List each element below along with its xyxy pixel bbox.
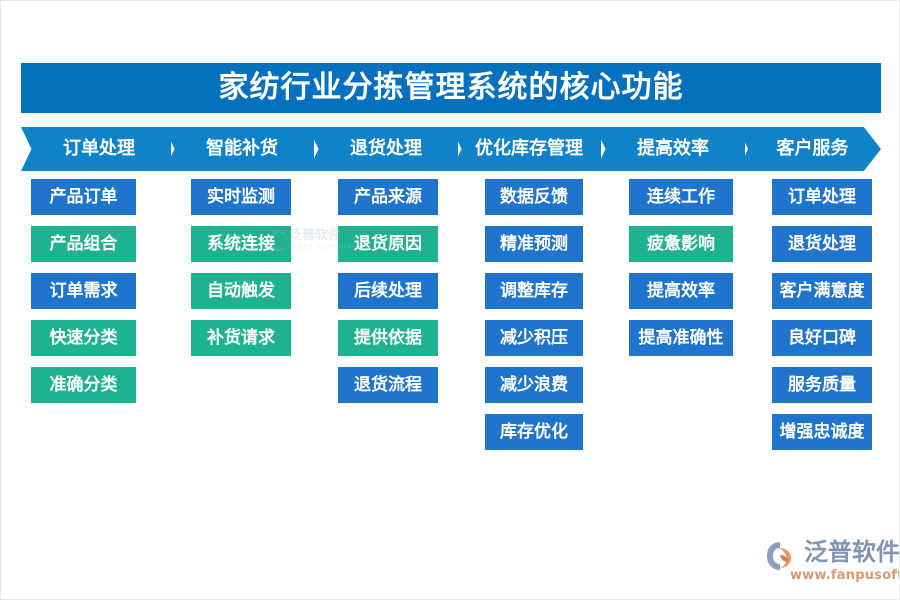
item-box[interactable]: 减少积压 [485, 320, 583, 356]
item-box[interactable]: 后续处理 [338, 273, 438, 309]
chevron-header-label: 订单处理 [57, 140, 135, 158]
item-box[interactable]: 减少浪费 [485, 367, 583, 403]
item-box[interactable]: 客户满意度 [772, 273, 872, 309]
logo-website-url: www.fanpusoft.com [790, 569, 900, 582]
item-label: 订单需求 [50, 283, 118, 300]
title-banner: 家纺行业分拣管理系统的核心功能 [21, 63, 881, 113]
column-6: 订单处理退货处理客户满意度良好口碑服务质量增强忠诚度 [772, 179, 872, 461]
column-2: 实时监测系统连接自动触发补货请求 [191, 179, 291, 367]
item-box[interactable]: 产品订单 [31, 179, 136, 215]
item-box[interactable]: 数据反馈 [485, 179, 583, 215]
item-label: 退货流程 [354, 377, 422, 394]
item-label: 调整库存 [500, 283, 568, 300]
item-box[interactable]: 订单处理 [772, 179, 872, 215]
item-box[interactable]: 产品组合 [31, 226, 136, 262]
item-label: 产品订单 [50, 189, 118, 206]
item-box[interactable]: 订单需求 [31, 273, 136, 309]
item-label: 快速分类 [50, 330, 118, 347]
item-box[interactable]: 提高准确性 [629, 320, 733, 356]
item-box[interactable]: 连续工作 [629, 179, 733, 215]
item-label: 准确分类 [50, 377, 118, 394]
item-box[interactable]: 服务质量 [772, 367, 872, 403]
item-box[interactable]: 准确分类 [31, 367, 136, 403]
item-label: 补货请求 [207, 330, 275, 347]
fanpu-logo-icon [766, 541, 800, 571]
item-label: 系统连接 [207, 236, 275, 253]
item-label: 客户满意度 [780, 283, 865, 300]
chevron-header-label: 退货处理 [344, 140, 422, 158]
item-label: 退货处理 [788, 236, 856, 253]
column-4: 数据反馈精准预测调整库存减少积压减少浪费库存优化 [485, 179, 583, 461]
chevron-header-5[interactable]: 提高效率 [595, 127, 745, 171]
item-box[interactable]: 快速分类 [31, 320, 136, 356]
column-1: 产品订单产品组合订单需求快速分类准确分类 [31, 179, 136, 414]
column-5: 连续工作疲惫影响提高效率提高准确性 [629, 179, 733, 367]
item-label: 提高效率 [647, 283, 715, 300]
item-label: 产品来源 [354, 189, 422, 206]
item-label: 后续处理 [354, 283, 422, 300]
chevron-header-label: 提高效率 [631, 140, 709, 158]
item-box[interactable]: 良好口碑 [772, 320, 872, 356]
item-box[interactable]: 退货原因 [338, 226, 438, 262]
item-label: 自动触发 [207, 283, 275, 300]
item-label: 减少浪费 [500, 377, 568, 394]
item-box[interactable]: 提供依据 [338, 320, 438, 356]
item-box[interactable]: 疲惫影响 [629, 226, 733, 262]
chevron-header-label: 智能补货 [200, 140, 278, 158]
infographic-canvas: 家纺行业分拣管理系统的核心功能 订单处理智能补货退货处理优化库存管理提高效率客户… [0, 0, 900, 600]
item-label: 产品组合 [50, 236, 118, 253]
item-box[interactable]: 补货请求 [191, 320, 291, 356]
item-label: 订单处理 [788, 189, 856, 206]
chevron-header-label: 客户服务 [771, 140, 849, 158]
chevron-header-3[interactable]: 退货处理 [308, 127, 458, 171]
item-box[interactable]: 调整库存 [485, 273, 583, 309]
item-label: 连续工作 [647, 189, 715, 206]
chevron-header-1[interactable]: 订单处理 [21, 127, 171, 171]
item-label: 增强忠诚度 [780, 424, 865, 441]
item-label: 提供依据 [354, 330, 422, 347]
item-box[interactable]: 增强忠诚度 [772, 414, 872, 450]
chevron-header-6[interactable]: 客户服务 [738, 127, 881, 171]
item-label: 精准预测 [500, 236, 568, 253]
item-box[interactable]: 退货流程 [338, 367, 438, 403]
item-box[interactable]: 产品来源 [338, 179, 438, 215]
brand-logo: 泛普软件 www.fanpusoft.com [766, 539, 891, 587]
chevron-header-label: 优化库存管理 [469, 140, 583, 158]
item-label: 退货原因 [354, 236, 422, 253]
center-watermark-zh: 泛普软件 [289, 229, 341, 242]
item-label: 减少积压 [500, 330, 568, 347]
item-box[interactable]: 精准预测 [485, 226, 583, 262]
item-label: 库存优化 [500, 424, 568, 441]
item-label: 实时监测 [207, 189, 275, 206]
item-box[interactable]: 自动触发 [191, 273, 291, 309]
item-box[interactable]: 系统连接 [191, 226, 291, 262]
logo-company-name: 泛普软件 [804, 539, 900, 567]
chevron-header-2[interactable]: 智能补货 [164, 127, 314, 171]
chevron-header-row: 订单处理智能补货退货处理优化库存管理提高效率客户服务 [21, 127, 881, 171]
item-box[interactable]: 实时监测 [191, 179, 291, 215]
item-box[interactable]: 退货处理 [772, 226, 872, 262]
item-box[interactable]: 提高效率 [629, 273, 733, 309]
chevron-header-4[interactable]: 优化库存管理 [451, 127, 601, 171]
page-title: 家纺行业分拣管理系统的核心功能 [219, 73, 684, 103]
item-label: 数据反馈 [500, 189, 568, 206]
item-label: 良好口碑 [788, 330, 856, 347]
item-box[interactable]: 库存优化 [485, 414, 583, 450]
item-label: 服务质量 [788, 377, 856, 394]
column-3: 产品来源退货原因后续处理提供依据退货流程 [338, 179, 438, 414]
item-label: 提高准确性 [639, 330, 724, 347]
item-label: 疲惫影响 [647, 236, 715, 253]
